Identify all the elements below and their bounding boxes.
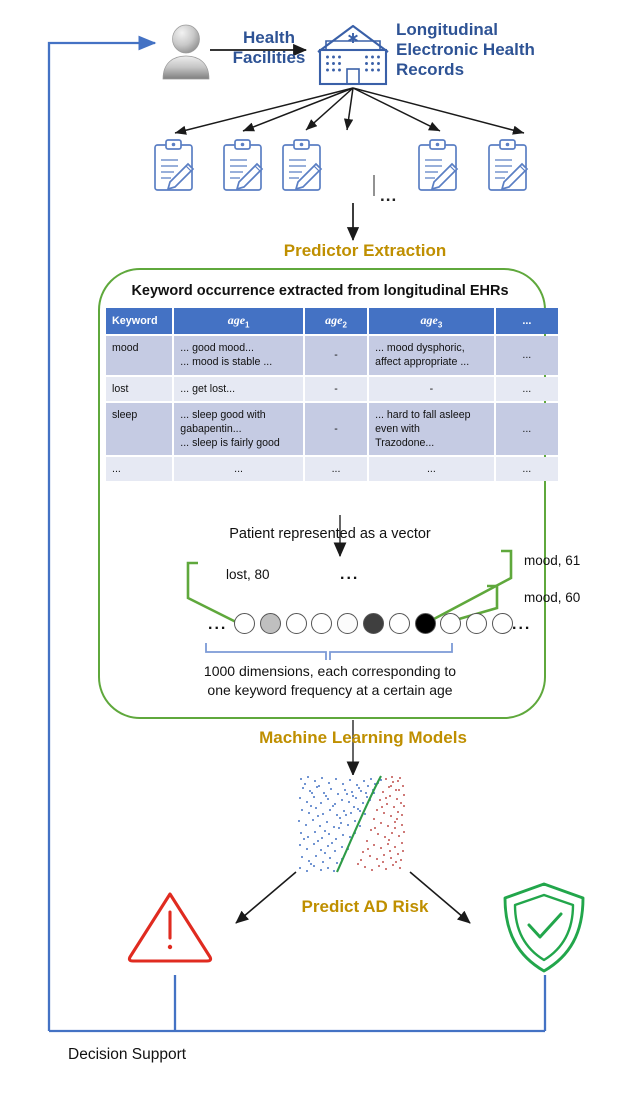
cell-age1: ... get lost...	[174, 377, 303, 401]
cell-age3: -	[369, 377, 494, 401]
ehr-note-icon	[283, 140, 321, 190]
health-facilities-label: HealthFacilities	[214, 28, 324, 68]
vector-cell	[260, 613, 281, 634]
cell-more: ...	[496, 336, 558, 374]
keyword-occurrence-table: Keyword age1 age2 age3 ... mood ... good…	[104, 306, 560, 483]
decision-support-label: Decision Support	[68, 1046, 186, 1064]
table-row: mood ... good mood... ... mood is stable…	[106, 336, 558, 374]
cell-age3: ...	[369, 457, 494, 481]
ehr-note-icon	[155, 140, 193, 190]
cell-keyword: lost	[106, 377, 172, 401]
table-row: sleep ... sleep good with gabapentin... …	[106, 403, 558, 455]
ehr-note-icon	[224, 140, 262, 190]
cell-age3: ... mood dysphoric, affect appropriate .…	[369, 336, 494, 374]
ml-models-label: Machine Learning Models	[228, 728, 498, 748]
predictor-extraction-label: Predictor Extraction	[240, 241, 490, 261]
cell-age1: ... sleep good with gabapentin... ... sl…	[174, 403, 303, 455]
records-fanout-arrows	[175, 88, 524, 133]
vector-cell	[492, 613, 513, 634]
hospital-icon	[318, 26, 388, 84]
vector-middle-ellipsis: ...	[340, 566, 359, 585]
ehr-title-label: Longitudinal Electronic Health Records	[396, 20, 556, 80]
cell-age2: ...	[305, 457, 367, 481]
cell-keyword: ...	[106, 457, 172, 481]
ehr-note-icon	[419, 140, 457, 190]
cell-age1: ...	[174, 457, 303, 481]
scatter-class-b	[357, 776, 405, 871]
cell-more: ...	[496, 377, 558, 401]
col-header-age3: age3	[369, 308, 494, 334]
predict-ad-risk-label: Predict AD Risk	[265, 897, 465, 917]
vector-leading-ellipsis: ...	[208, 616, 227, 635]
vector-title: Patient represented as a vector	[180, 526, 480, 543]
cell-age3: ... hard to fall asleep even with Trazod…	[369, 403, 494, 455]
table-row: lost ... get lost... - - ...	[106, 377, 558, 401]
ehr-note-icons	[155, 140, 527, 196]
vector-trailing-ellipsis: ...	[512, 616, 531, 635]
cell-keyword: mood	[106, 336, 172, 374]
cell-age2: -	[305, 336, 367, 374]
vector-caption: 1000 dimensions, each corresponding toon…	[180, 662, 480, 700]
vector-label-mood-61: mood, 61	[524, 553, 580, 569]
cell-more: ...	[496, 457, 558, 481]
col-header-more: ...	[496, 308, 558, 334]
cell-age1: ... good mood... ... mood is stable ...	[174, 336, 303, 374]
table-row: ... ... ... ... ...	[106, 457, 558, 481]
vector-cell	[234, 613, 255, 634]
diagram-canvas: HealthFacilities Longitudinal Electronic…	[0, 0, 640, 1093]
ehr-note-icon	[489, 140, 527, 190]
col-header-age2: age2	[305, 308, 367, 334]
records-ellipsis: ...	[380, 186, 397, 206]
vector-label-mood-60: mood, 60	[524, 590, 580, 606]
cell-more: ...	[496, 403, 558, 455]
col-header-keyword: Keyword	[106, 308, 172, 334]
person-icon	[163, 25, 209, 79]
shield-check-icon	[505, 884, 583, 971]
warning-triangle-icon	[129, 894, 210, 961]
col-header-age1: age1	[174, 308, 303, 334]
cell-age2: -	[305, 403, 367, 455]
vector-cell	[415, 613, 436, 634]
vector-cell	[286, 613, 307, 634]
scatter-class-a	[298, 776, 382, 872]
vector-cell	[363, 613, 384, 634]
table-caption: Keyword occurrence extracted from longit…	[120, 283, 520, 300]
vector-cell	[389, 613, 410, 634]
classifier-scatter-plot	[297, 775, 405, 873]
vector-label-lost: lost, 80	[226, 567, 270, 583]
cell-age2: -	[305, 377, 367, 401]
cell-keyword: sleep	[106, 403, 172, 455]
table-header-row: Keyword age1 age2 age3 ...	[106, 308, 558, 334]
